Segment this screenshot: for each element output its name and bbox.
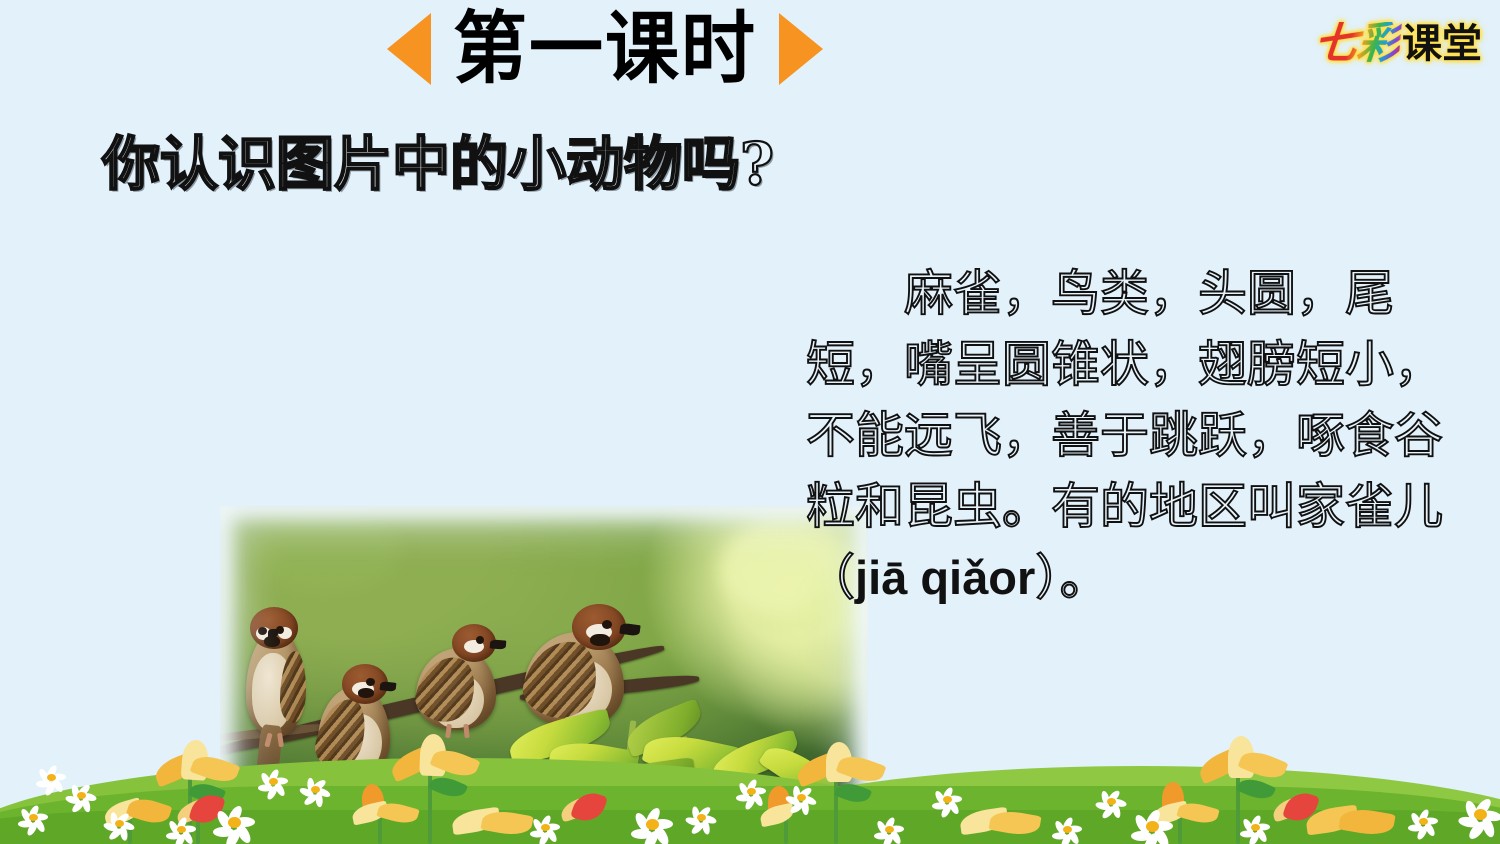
daisy-flower (66, 784, 96, 806)
daisy-flower (736, 780, 766, 802)
brand-logo: 七彩 课堂 (1314, 22, 1482, 66)
slide-title-row: 第一课时 (0, 12, 1210, 86)
sparrows-photo (110, 253, 758, 673)
daisy-flower (300, 778, 330, 800)
brand-logo-colored-text: 七彩 (1312, 22, 1402, 66)
daisy-flower (874, 818, 904, 840)
daisy-flower (36, 766, 66, 788)
daisy-flower (530, 816, 560, 838)
tulip-flower (1306, 800, 1396, 844)
daisy-flower (686, 806, 716, 828)
daisy-flower (1408, 810, 1438, 832)
daisy-flower (166, 818, 196, 840)
slide-canvas: 第一课时 七彩 课堂 你认识图片中的小动物吗? (0, 0, 1500, 844)
daisy-flower (1052, 818, 1082, 840)
daisy-flower (258, 770, 288, 792)
page-title: 第一课时 (453, 10, 757, 88)
daisy-flower (630, 808, 674, 840)
grass-decoration-border (0, 724, 1500, 844)
sparrow-1 (242, 601, 314, 741)
daisy-flower (932, 788, 962, 810)
brand-logo-black-text: 课堂 (1402, 24, 1482, 64)
daisy-flower (212, 806, 256, 838)
sparrow-3 (416, 622, 514, 734)
tulip-flower (352, 778, 422, 844)
tulip-flower (452, 802, 536, 844)
daisy-flower (1096, 790, 1126, 812)
daisy-flower (1458, 798, 1500, 830)
daisy-flower (786, 786, 816, 808)
daisy-flower (18, 806, 48, 828)
daisy-flower (1130, 810, 1174, 842)
description-text-part2: ）。 (1035, 549, 1109, 606)
pinyin-text: jiā qiǎor (855, 551, 1035, 604)
red-flower (560, 788, 630, 840)
triangle-right-icon (779, 13, 823, 85)
description-paragraph: 麻雀，鸟类，头圆，尾短，嘴呈圆锥状，翅膀短小，不能远飞，善于跳跃，啄食谷粒和昆虫… (806, 258, 1490, 613)
tulip-flower (960, 802, 1044, 844)
question-heading: 你认识图片中的小动物吗? (102, 133, 774, 197)
daisy-flower (104, 812, 134, 834)
triangle-left-icon (387, 13, 431, 85)
daisy-flower (1240, 816, 1270, 838)
